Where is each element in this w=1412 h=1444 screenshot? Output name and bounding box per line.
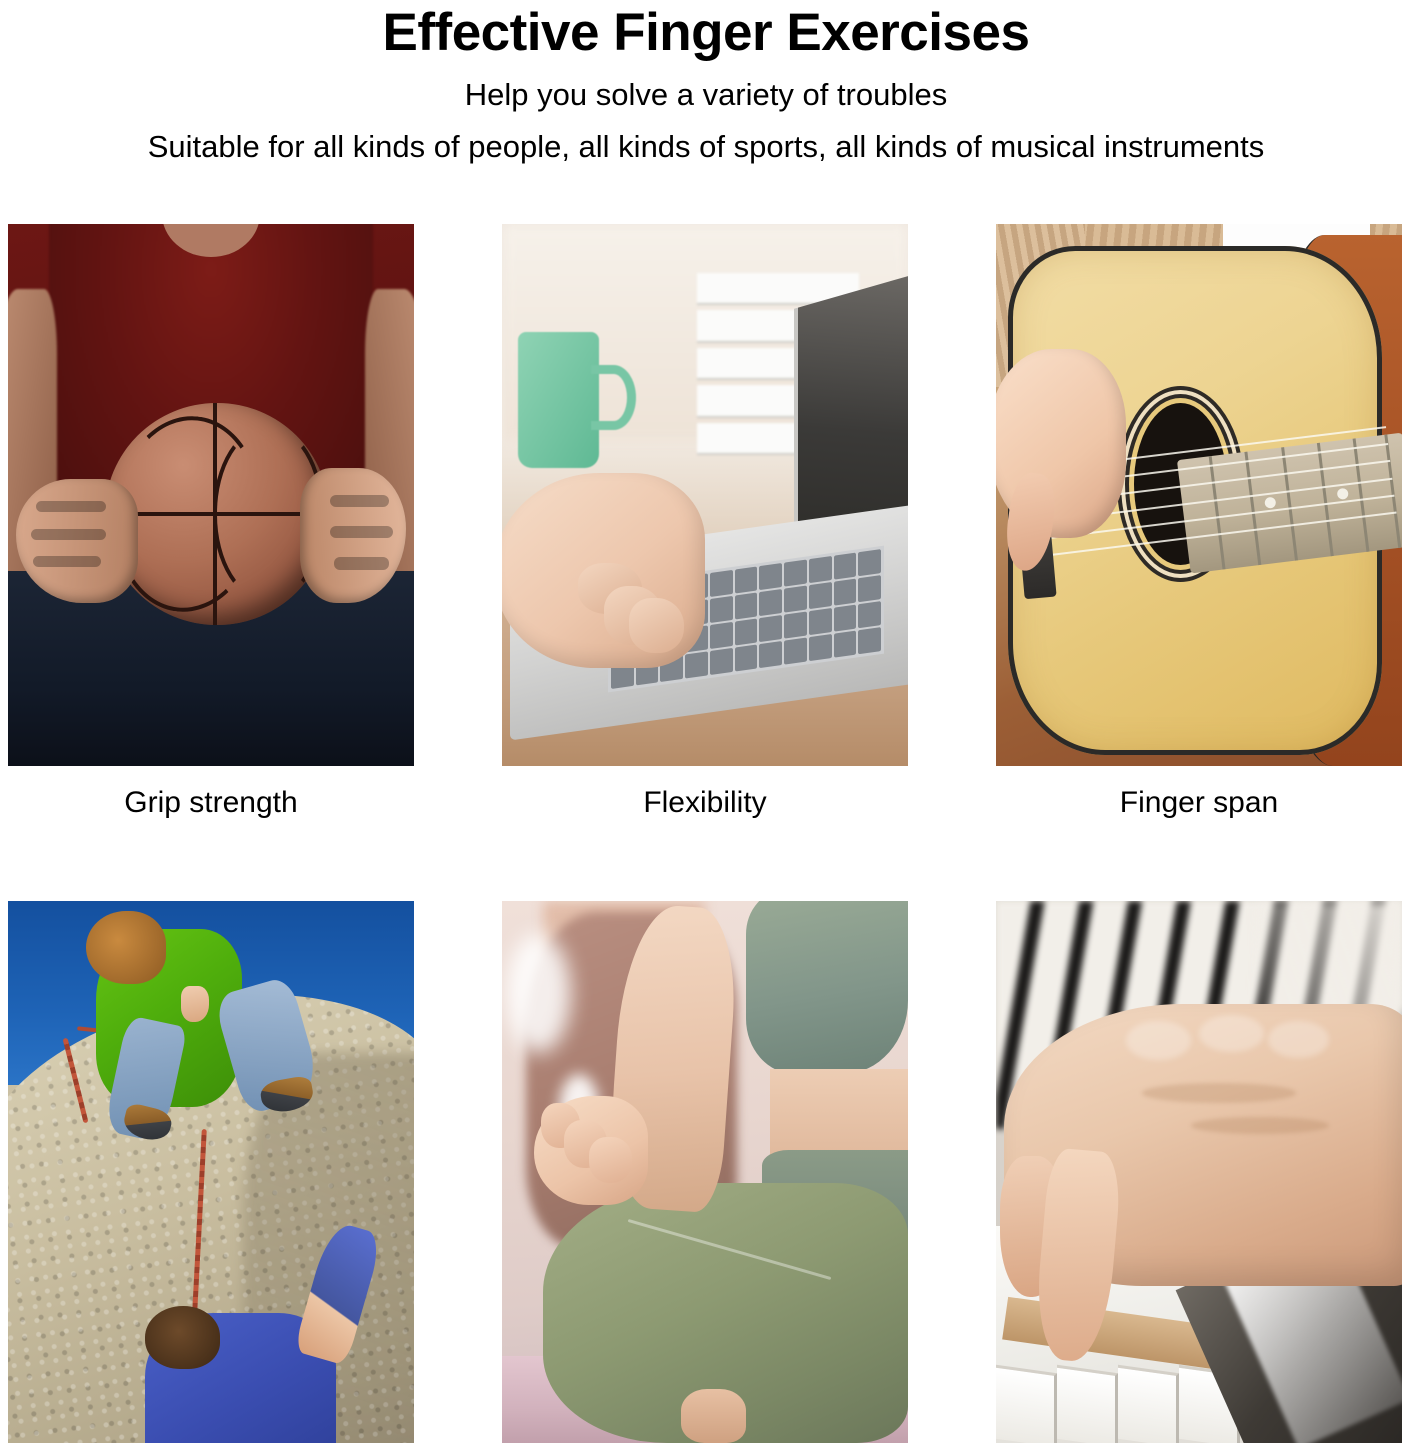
basketball-shape [105,403,328,625]
page-subtitle-secondary: Suitable for all kinds of people, all ki… [0,122,1412,172]
piano-playing-photo [996,901,1402,1443]
lower-climber [130,1291,382,1443]
feature-caption: Flexibility [502,766,908,822]
product-feature-page: Effective Finger Exercises Help you solv… [0,0,1412,1444]
rock-climbing-photo [8,901,414,1443]
yoga-meditation-photo [502,901,908,1443]
header: Effective Finger Exercises Help you solv… [0,0,1412,172]
dark-hair-shape [145,1306,221,1369]
curly-hair-shape [86,911,166,984]
mudra-hand-shape [534,1096,648,1204]
sports-bra-shape [746,901,908,1074]
reaching-down-hand [181,986,209,1022]
upper-climber [77,906,312,1134]
feature-cell-intensity: Intensity [996,901,1402,1444]
feature-cell-finger-span: Finger span [996,224,1402,822]
feature-cell-grip-strength: Grip strength [8,224,414,822]
feature-cell-coordination: Coordination [502,901,908,1444]
page-subtitle-primary: Help you solve a variety of troubles [0,70,1412,120]
foot-shape [681,1389,746,1443]
basketball-grip-photo [8,224,414,766]
feature-caption: Finger span [996,766,1402,822]
page-title: Effective Finger Exercises [0,2,1412,64]
mug-handle-shape [591,365,636,430]
typing-hand-shape [502,473,705,668]
feature-cell-endurance: Endurance [8,901,414,1444]
feature-cell-flexibility: Flexibility [502,224,908,822]
feature-caption: Grip strength [8,766,414,822]
laptop-typing-photo [502,224,908,766]
window-glow-left [506,934,571,1053]
feature-image-grid: Grip strength [8,224,1406,1444]
mug-shape [518,332,599,468]
acoustic-guitar-photo [996,224,1402,766]
